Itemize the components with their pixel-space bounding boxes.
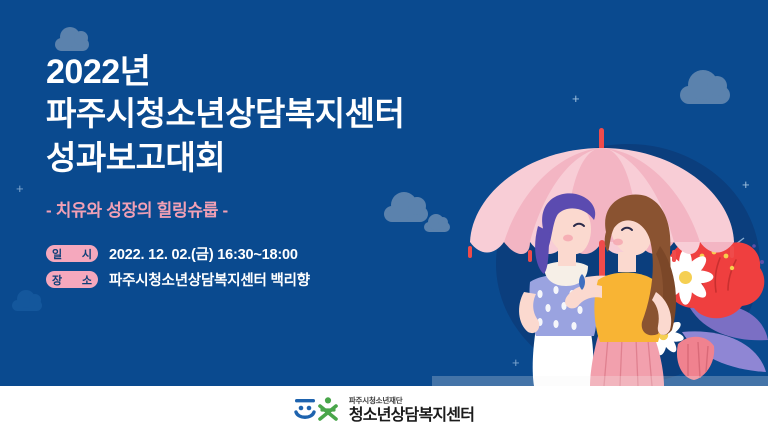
ground-line: [432, 360, 768, 386]
foundation-logo-mark: [294, 396, 340, 422]
title-line-center-name: 파주시청소년상담복지센터: [46, 92, 566, 136]
poster-copy: 2022년 파주시청소년상담복지센터 성과보고대회 - 치유와 성장의 힐링슈룹…: [46, 52, 566, 295]
event-place-value: 파주시청소년상담복지센터 백리향: [109, 269, 310, 290]
event-info-row-place: 장 소 파주시청소년상담복지센터 백리향: [46, 269, 566, 290]
badge-char-2: 소: [82, 272, 92, 288]
logo-foundation-name: 파주시청소년재단: [349, 395, 474, 406]
event-poster: + + + +: [0, 0, 768, 432]
event-info-row-date: 일 시 2022. 12. 02.(금) 16:30~18:00: [46, 243, 566, 264]
logo-center-name: 청소년상담복지센터: [349, 407, 474, 424]
poster-background: + + + +: [0, 0, 768, 386]
event-date-value: 2022. 12. 02.(금) 16:30~18:00: [109, 243, 298, 264]
badge-char-2: 시: [82, 246, 92, 262]
event-info-list: 일 시 2022. 12. 02.(금) 16:30~18:00 장 소 파주시…: [46, 243, 566, 290]
title-line-year: 2022년: [46, 52, 566, 92]
badge-char-1: 일: [52, 246, 62, 262]
logo-text-block: 파주시청소년재단 청소년상담복지센터: [349, 395, 474, 424]
footer-logo: 파주시청소년재단 청소년상담복지센터: [0, 386, 768, 432]
label-badge-date: 일 시: [46, 245, 98, 262]
label-badge-place: 장 소: [46, 271, 98, 288]
sparkle-plus-icon: +: [16, 182, 24, 195]
smiley-x-logo-icon: [294, 396, 340, 422]
poster-subtitle: - 치유와 성장의 힐링슈룹 -: [46, 196, 566, 221]
cloud-icon: [55, 38, 89, 51]
title-line-event-name: 성과보고대회: [46, 136, 566, 180]
badge-char-1: 장: [52, 272, 62, 288]
cloud-icon: [12, 300, 42, 311]
